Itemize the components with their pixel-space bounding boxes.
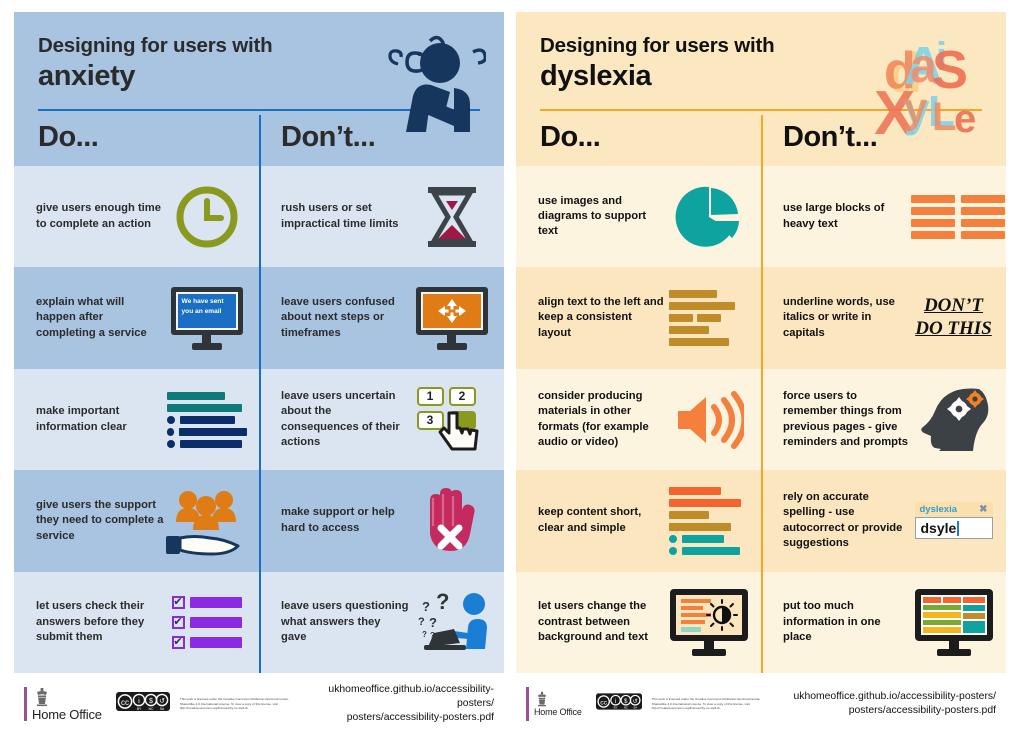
sample-line-2: DO THIS <box>915 318 992 341</box>
dont-text: make support or help hard to access <box>281 505 409 536</box>
dont-cell: rely on accurate spelling - use autocorr… <box>761 470 1006 571</box>
table-row: align text to the left and keep a consis… <box>516 267 1006 368</box>
dont-cell: underline words, use italics or write in… <box>761 267 1006 368</box>
do-cell: let users change the contrast between ba… <box>516 572 761 673</box>
dont-cell: put too much information in one place <box>761 572 1006 673</box>
do-text: keep content short, clear and simple <box>538 505 666 536</box>
dont-text: leave users confused about next steps or… <box>281 295 409 341</box>
key-2[interactable]: 2 <box>449 387 476 406</box>
svg-text:i: i <box>615 698 616 705</box>
short-content-bars-icon <box>666 476 751 565</box>
checkbox[interactable]: ✔ <box>172 636 185 649</box>
dont-cell: make support or help hard to access <box>259 470 504 571</box>
home-office-crest-icon <box>32 687 52 707</box>
do-text: give users enough time to complete an ac… <box>36 201 164 232</box>
svg-text:SA: SA <box>633 706 637 710</box>
dyslexia-rows: use images and diagrams to support text … <box>516 166 1006 673</box>
number-keys-icon: 1 2 3 4 <box>409 375 494 464</box>
dont-do-this-text-icon: DON’T DO THIS <box>911 273 996 362</box>
svg-text:cc: cc <box>600 699 607 706</box>
dont-cell: rush users or set impractical time limit… <box>259 166 504 267</box>
dont-text: underline words, use italics or write in… <box>783 295 911 341</box>
close-icon[interactable]: ✖ <box>979 504 987 515</box>
do-cell: consider producing materials in other fo… <box>516 369 761 470</box>
table-row: give users the support they need to comp… <box>14 470 504 571</box>
table-row: give users enough time to complete an ac… <box>14 166 504 267</box>
do-text: use images and diagrams to support text <box>538 194 666 240</box>
key-1[interactable]: 1 <box>417 387 444 406</box>
table-row: let users change the contrast between ba… <box>516 572 1006 673</box>
autocorrect-suggestion[interactable]: dyslexia <box>920 504 958 515</box>
dont-text: rush users or set impractical time limit… <box>281 201 409 232</box>
dont-cell: force users to remember things from prev… <box>761 369 1006 470</box>
home-office-logo: Home Office <box>520 687 582 721</box>
monitor-arrows-icon <box>409 273 494 362</box>
source-url: ukhomeoffice.github.io/accessibility-pos… <box>793 690 996 718</box>
svg-text:?: ? <box>429 615 437 630</box>
column-divider <box>259 369 261 470</box>
stop-hand-cross-icon <box>409 476 494 565</box>
contrast-monitor-icon <box>666 578 751 667</box>
table-row: keep content short, clear and simple <box>516 470 1006 571</box>
do-cell: give users the support they need to comp… <box>14 470 259 571</box>
posters-canvas: Designing for users with anxiety <box>0 0 1024 741</box>
column-divider <box>761 470 763 571</box>
checkbox-list-icon: ✔ ✔ ✔ <box>164 578 249 667</box>
helping-hand-people-icon <box>164 476 250 565</box>
do-column-header: Do... <box>38 121 259 154</box>
source-url-line2: posters/accessibility-posters.pdf <box>292 711 494 725</box>
svg-text:↺: ↺ <box>632 698 637 705</box>
column-divider <box>259 470 261 571</box>
svg-text:cc: cc <box>121 698 129 707</box>
column-divider <box>259 267 261 368</box>
left-aligned-text-icon <box>666 273 751 362</box>
monitor-email-icon: We have sent you an email <box>164 273 249 362</box>
svg-text:NC: NC <box>623 706 627 710</box>
person-laptop-questions-icon: ? ? ? ? ? ? <box>409 578 494 667</box>
do-text: make important information clear <box>36 404 164 435</box>
table-row: make important information clear leave <box>14 369 504 470</box>
column-divider <box>259 166 261 267</box>
do-cell: explain what will happen after completin… <box>14 267 259 368</box>
table-row: consider producing materials in other fo… <box>516 369 1006 470</box>
speaker-audio-icon <box>666 375 751 464</box>
anxiety-rows: give users enough time to complete an ac… <box>14 166 504 673</box>
do-text: explain what will happen after completin… <box>36 295 164 341</box>
poster-footer: Home Office cc i $ ↺ BY NC SA <box>516 673 1006 729</box>
svg-text:?: ? <box>418 616 425 628</box>
svg-text:BY: BY <box>137 707 142 711</box>
table-row: explain what will happen after completin… <box>14 267 504 368</box>
dont-cell: leave users uncertain about the conseque… <box>259 369 504 470</box>
svg-text:SA: SA <box>160 707 165 711</box>
dont-text: force users to remember things from prev… <box>783 389 911 451</box>
text-cursor <box>957 521 959 536</box>
clock-icon <box>164 172 249 261</box>
do-cell: give users enough time to complete an ac… <box>14 166 259 267</box>
do-cell: make important information clear <box>14 369 259 470</box>
do-text: let users check their answers before the… <box>36 599 164 645</box>
creative-commons-badge: cc i $ ↺ BY NC SA <box>116 692 170 716</box>
dont-label: Don’t... <box>281 121 480 154</box>
spelling-input-value[interactable]: dsyle <box>921 520 957 536</box>
svg-text:?: ? <box>422 599 430 614</box>
column-divider <box>259 115 261 168</box>
column-divider <box>761 166 763 267</box>
column-divider <box>761 572 763 673</box>
home-office-label: Home Office <box>32 707 102 722</box>
svg-text:?: ? <box>436 589 449 614</box>
column-divider <box>761 115 763 168</box>
poster-header: Designing for users with dyslexia d d A … <box>516 12 1006 166</box>
spellcheck-input-icon: dyslexia ✖ dsyle <box>911 476 996 565</box>
do-cell: keep content short, clear and simple <box>516 470 761 571</box>
column-divider <box>761 267 763 368</box>
poster-header: Designing for users with anxiety <box>14 12 504 166</box>
dont-text: leave users uncertain about the conseque… <box>281 389 409 451</box>
pointer-hand-icon <box>437 411 483 453</box>
license-text: This work is licensed under the Creative… <box>180 697 292 710</box>
dont-text: put too much information in one place <box>783 599 911 645</box>
heavy-text-blocks-icon <box>911 172 1005 261</box>
sample-line-1: DON’T <box>915 295 992 318</box>
dont-text: use large blocks of heavy text <box>783 201 911 232</box>
dont-label: Don’t... <box>783 121 982 154</box>
poster-dyslexia: Designing for users with dyslexia d d A … <box>516 12 1006 729</box>
pie-chart-icon <box>666 172 751 261</box>
poster-anxiety: Designing for users with anxiety <box>14 12 504 729</box>
checkbox[interactable]: ✔ <box>172 596 185 609</box>
table-row: let users check their answers before the… <box>14 572 504 673</box>
dont-cell: leave users confused about next steps or… <box>259 267 504 368</box>
column-divider <box>259 572 261 673</box>
do-text: consider producing materials in other fo… <box>538 389 666 451</box>
logo-bar <box>526 687 529 721</box>
creative-commons-badge: cc i $ ↺ BY NC SA <box>596 693 642 715</box>
source-url: ukhomeoffice.github.io/accessibility-pos… <box>292 683 494 725</box>
dont-column-header: Don’t... <box>259 121 480 154</box>
do-cell: align text to the left and keep a consis… <box>516 267 761 368</box>
do-label: Do... <box>38 121 259 154</box>
logo-bar <box>24 687 27 721</box>
do-text: align text to the left and keep a consis… <box>538 295 666 341</box>
home-office-label: Home Office <box>534 707 582 717</box>
do-label: Do... <box>540 121 761 154</box>
svg-text:?: ? <box>422 630 427 639</box>
home-office-crest-icon <box>534 691 550 707</box>
source-url-line1: ukhomeoffice.github.io/accessibility-pos… <box>793 690 996 704</box>
do-cell: use images and diagrams to support text <box>516 166 761 267</box>
dont-text: leave users questioning what answers the… <box>281 599 409 645</box>
do-cell: let users check their answers before the… <box>14 572 259 673</box>
clear-list-icon <box>164 375 249 464</box>
dont-column-header: Don’t... <box>761 121 982 154</box>
svg-text:$: $ <box>149 698 153 705</box>
do-text: let users change the contrast between ba… <box>538 599 666 645</box>
source-url-line2: posters/accessibility-posters.pdf <box>793 704 996 718</box>
dont-cell: leave users questioning what answers the… <box>259 572 504 673</box>
svg-text:↺: ↺ <box>159 698 165 705</box>
cluttered-monitor-icon <box>911 578 996 667</box>
source-url-line1: ukhomeoffice.github.io/accessibility-pos… <box>292 683 494 711</box>
do-column-header: Do... <box>540 121 761 154</box>
svg-text:NC: NC <box>148 707 153 711</box>
hourglass-icon <box>409 172 494 261</box>
monitor-screen-text: We have sent you an email <box>178 294 236 328</box>
column-divider <box>761 369 763 470</box>
dont-text: rely on accurate spelling - use autocorr… <box>783 490 911 552</box>
head-cogs-icon <box>911 375 996 464</box>
dont-cell: use large blocks of heavy text <box>761 166 1006 267</box>
svg-text:BY: BY <box>613 706 617 710</box>
do-text: give users the support they need to comp… <box>36 498 164 544</box>
checkbox[interactable]: ✔ <box>172 616 185 629</box>
poster-footer: Home Office cc i $ ↺ BY NC SA <box>14 673 504 729</box>
table-row: use images and diagrams to support text … <box>516 166 1006 267</box>
home-office-logo: Home Office <box>18 687 102 722</box>
license-text: This work is licensed under the Creative… <box>652 697 764 710</box>
